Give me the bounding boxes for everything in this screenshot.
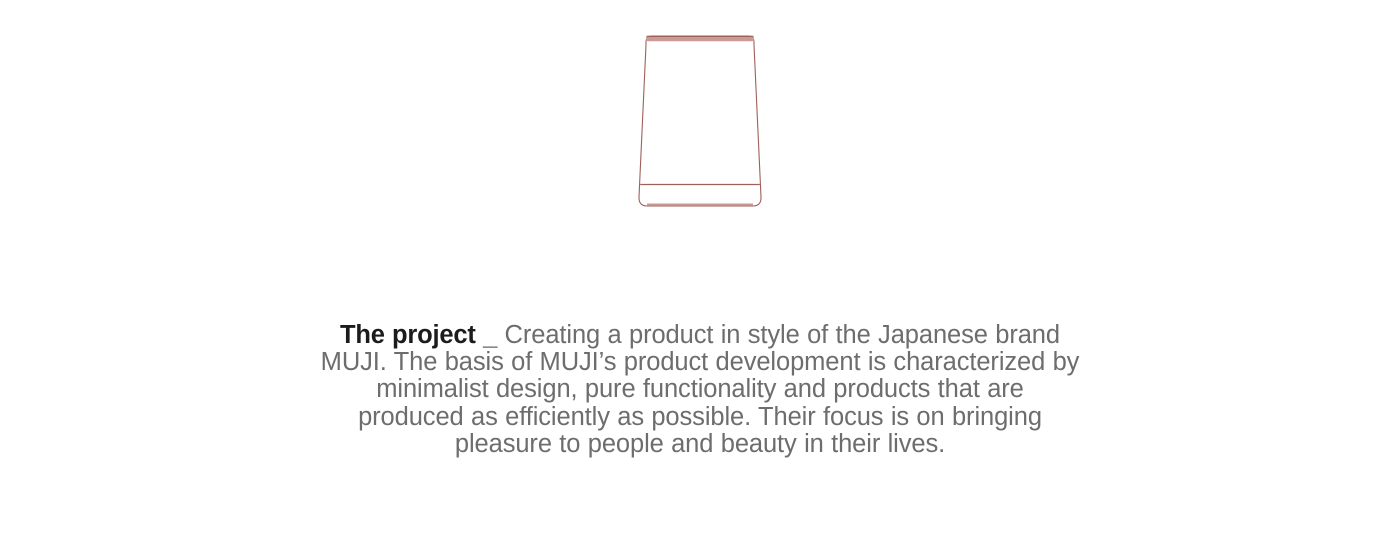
product-top-rim-band	[646, 37, 754, 42]
slide-canvas: The project _ Creating a product in styl…	[0, 0, 1400, 541]
product-illustration-container	[0, 0, 1400, 260]
product-line-drawing-icon	[620, 34, 780, 234]
project-caption: The project _ Creating a product in styl…	[320, 322, 1080, 458]
product-body-outline	[639, 36, 761, 206]
caption-paragraph: The project _ Creating a product in styl…	[320, 322, 1080, 458]
caption-separator: _	[483, 321, 497, 349]
caption-lead-label: The project	[340, 321, 476, 349]
